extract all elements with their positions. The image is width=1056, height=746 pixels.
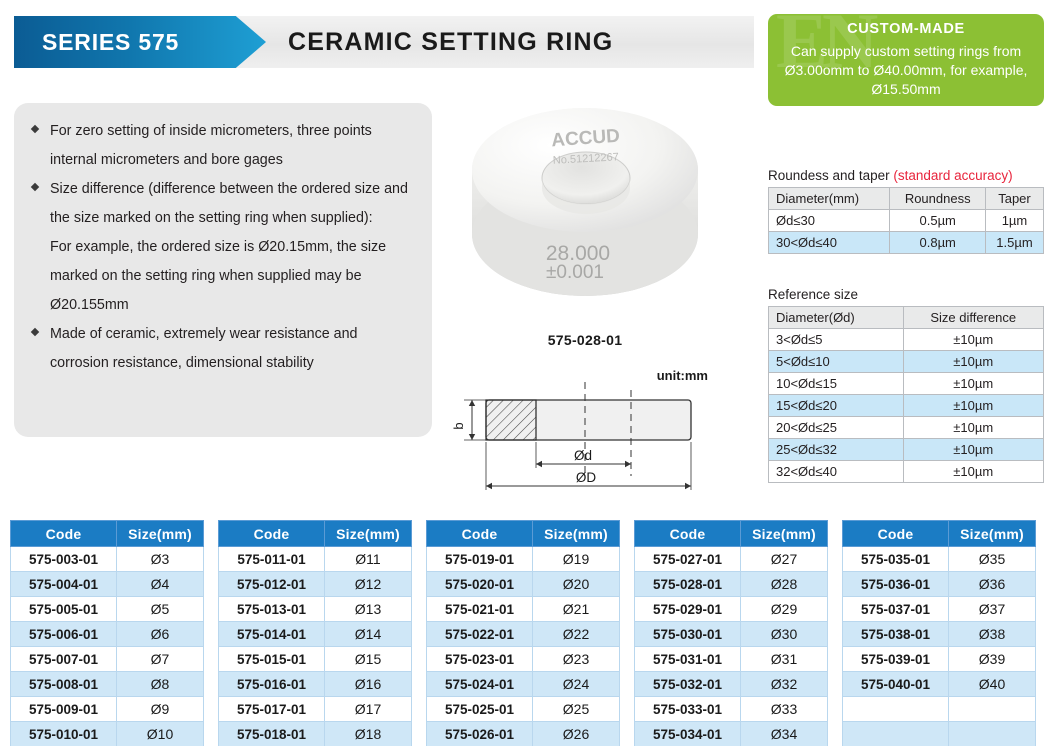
product-caption: 575-028-01 xyxy=(440,332,730,348)
table-header-row: CodeSize(mm) xyxy=(427,521,620,547)
diamond-bullet-icon xyxy=(31,328,39,336)
cell-size-difference: ±10µm xyxy=(903,373,1043,395)
custom-made-title: CUSTOM-MADE xyxy=(847,21,965,37)
cell-code xyxy=(843,697,949,722)
cell-code: 575-035-01 xyxy=(843,547,949,572)
table-row: 575-034-01Ø34 xyxy=(635,722,828,746)
cell-size: Ø22 xyxy=(533,622,620,647)
cell-code: 575-040-01 xyxy=(843,672,949,697)
table-row: 575-005-01Ø5 xyxy=(11,597,204,622)
column-header: Roundness xyxy=(890,188,986,210)
table-header-row: CodeSize(mm) xyxy=(11,521,204,547)
table-row: 575-033-01Ø33 xyxy=(635,697,828,722)
cell-roundness: 0.5µm xyxy=(890,210,986,232)
roundness-caption: Roundess and taper (standard accuracy) xyxy=(768,168,1044,183)
cell-code: 575-021-01 xyxy=(427,597,533,622)
cell-code: 575-012-01 xyxy=(219,572,325,597)
table-row: 575-036-01Ø36 xyxy=(843,572,1036,597)
cell-code: 575-031-01 xyxy=(635,647,741,672)
cell-size: Ø3 xyxy=(117,547,204,572)
cell-size: Ø23 xyxy=(533,647,620,672)
cell-size: Ø33 xyxy=(741,697,828,722)
table-row: 575-018-01Ø18 xyxy=(219,722,412,746)
cell-code: 575-019-01 xyxy=(427,547,533,572)
code-size-table: CodeSize(mm)575-027-01Ø27575-028-01Ø2857… xyxy=(634,520,828,746)
dim-d-label: Ød xyxy=(574,448,592,463)
unit-label: unit:mm xyxy=(657,368,708,383)
cell-size: Ø26 xyxy=(533,722,620,746)
cell-code: 575-010-01 xyxy=(11,722,117,746)
table-row: 575-035-01Ø35 xyxy=(843,547,1036,572)
table-row-empty xyxy=(843,722,1036,746)
roundness-table: Diameter(mm) Roundness Taper Ød≤30 0.5µm… xyxy=(768,187,1044,254)
cell-size: Ø37 xyxy=(949,597,1036,622)
series-label: SERIES 575 xyxy=(14,29,179,56)
table-row: 32<Ød≤40±10µm xyxy=(769,461,1044,483)
column-header-size: Size(mm) xyxy=(325,521,412,547)
table-row: 575-027-01Ø27 xyxy=(635,547,828,572)
page-title: CERAMIC SETTING RING xyxy=(288,16,613,68)
feature-text: For zero setting of inside micrometers, … xyxy=(50,123,372,168)
cell-size: Ø12 xyxy=(325,572,412,597)
technical-drawing: unit:mm b Ød xyxy=(446,368,730,498)
code-size-table: CodeSize(mm)575-035-01Ø35575-036-01Ø3657… xyxy=(842,520,1036,746)
cell-roundness: 0.8µm xyxy=(890,232,986,254)
list-item: Made of ceramic, extremely wear resistan… xyxy=(32,320,416,378)
reference-size-section: Reference size Diameter(Ød) Size differe… xyxy=(768,287,1044,483)
tolerance-engraving: ±0.001 xyxy=(546,262,604,283)
cell-diameter: 3<Ød≤5 xyxy=(769,329,904,351)
table-row: 575-009-01Ø9 xyxy=(11,697,204,722)
cell-size: Ø11 xyxy=(325,547,412,572)
table-row: 575-038-01Ø38 xyxy=(843,622,1036,647)
feature-text: Size difference (difference between the … xyxy=(50,181,408,226)
cell-code: 575-029-01 xyxy=(635,597,741,622)
table-header-row: Diameter(Ød) Size difference xyxy=(769,307,1044,329)
cell-code: 575-030-01 xyxy=(635,622,741,647)
table-row: 575-022-01Ø22 xyxy=(427,622,620,647)
cell-size-difference: ±10µm xyxy=(903,439,1043,461)
cell-size: Ø38 xyxy=(949,622,1036,647)
column-header: Diameter(mm) xyxy=(769,188,890,210)
cell-size: Ø35 xyxy=(949,547,1036,572)
cell-size: Ø13 xyxy=(325,597,412,622)
column-header-size: Size(mm) xyxy=(741,521,828,547)
table-row: 575-012-01Ø12 xyxy=(219,572,412,597)
feature-list: For zero setting of inside micrometers, … xyxy=(32,117,416,378)
dim-D-label: ØD xyxy=(576,470,597,485)
table-row: 575-017-01Ø17 xyxy=(219,697,412,722)
code-size-table: CodeSize(mm)575-003-01Ø3575-004-01Ø4575-… xyxy=(10,520,204,746)
cell-diameter: 30<Ød≤40 xyxy=(769,232,890,254)
cell-code: 575-006-01 xyxy=(11,622,117,647)
table-row: 15<Ød≤20±10µm xyxy=(769,395,1044,417)
table-row: 575-020-01Ø20 xyxy=(427,572,620,597)
table-header-row: CodeSize(mm) xyxy=(219,521,412,547)
cell-code: 575-034-01 xyxy=(635,722,741,746)
cell-code xyxy=(843,722,949,746)
cell-size: Ø20 xyxy=(533,572,620,597)
table-header-row: Diameter(mm) Roundness Taper xyxy=(769,188,1044,210)
cell-size: Ø27 xyxy=(741,547,828,572)
cell-size: Ø17 xyxy=(325,697,412,722)
column-header: Diameter(Ød) xyxy=(769,307,904,329)
table-row: 575-024-01Ø24 xyxy=(427,672,620,697)
table-row: 575-013-01Ø13 xyxy=(219,597,412,622)
column-header-size: Size(mm) xyxy=(533,521,620,547)
table-row: 575-019-01Ø19 xyxy=(427,547,620,572)
cross-section-diagram: b Ød ØD xyxy=(446,368,730,498)
cell-diameter: 25<Ød≤32 xyxy=(769,439,904,461)
table-row: 575-029-01Ø29 xyxy=(635,597,828,622)
cell-code: 575-027-01 xyxy=(635,547,741,572)
table-row: 10<Ød≤15±10µm xyxy=(769,373,1044,395)
table-row: 575-037-01Ø37 xyxy=(843,597,1036,622)
catalog-page: SERIES 575 CERAMIC SETTING RING EN CUSTO… xyxy=(0,0,1056,746)
table-row-empty xyxy=(843,697,1036,722)
cell-size: Ø34 xyxy=(741,722,828,746)
cell-size: Ø31 xyxy=(741,647,828,672)
cell-taper: 1.5µm xyxy=(985,232,1043,254)
dim-b-label: b xyxy=(451,422,466,429)
cell-size: Ø15 xyxy=(325,647,412,672)
table-row: 575-006-01Ø6 xyxy=(11,622,204,647)
features-panel: For zero setting of inside micrometers, … xyxy=(14,103,432,437)
cell-size: Ø16 xyxy=(325,672,412,697)
roundness-caption-main: Roundess and taper xyxy=(768,168,893,183)
cell-code: 575-016-01 xyxy=(219,672,325,697)
table-row: 575-031-01Ø31 xyxy=(635,647,828,672)
table-row: Ød≤30 0.5µm 1µm xyxy=(769,210,1044,232)
diamond-bullet-icon xyxy=(31,183,39,191)
cell-size: Ø6 xyxy=(117,622,204,647)
cell-size: Ø24 xyxy=(533,672,620,697)
table-row: 575-004-01Ø4 xyxy=(11,572,204,597)
cell-code: 575-015-01 xyxy=(219,647,325,672)
column-header-code: Code xyxy=(635,521,741,547)
cell-size-difference: ±10µm xyxy=(903,395,1043,417)
cell-code: 575-023-01 xyxy=(427,647,533,672)
cell-size: Ø29 xyxy=(741,597,828,622)
table-row: 575-015-01Ø15 xyxy=(219,647,412,672)
roundness-caption-accent: (standard accuracy) xyxy=(893,168,1012,183)
custom-made-text: Can supply custom setting rings from Ø3.… xyxy=(775,42,1037,99)
list-item-sub: For example, the ordered size is Ø20.15m… xyxy=(32,233,416,320)
cell-size xyxy=(949,722,1036,746)
cell-diameter: 5<Ød≤10 xyxy=(769,351,904,373)
cell-size: Ø18 xyxy=(325,722,412,746)
cell-code: 575-011-01 xyxy=(219,547,325,572)
product-photo: ACCUD No.51212267 28.000 ±0.001 xyxy=(440,108,730,318)
cell-size-difference: ±10µm xyxy=(903,461,1043,483)
table-row: 575-008-01Ø8 xyxy=(11,672,204,697)
cell-code: 575-003-01 xyxy=(11,547,117,572)
cell-size: Ø30 xyxy=(741,622,828,647)
cell-diameter: Ød≤30 xyxy=(769,210,890,232)
table-row: 575-021-01Ø21 xyxy=(427,597,620,622)
column-header-code: Code xyxy=(427,521,533,547)
cell-size: Ø10 xyxy=(117,722,204,746)
cell-size: Ø7 xyxy=(117,647,204,672)
diamond-bullet-icon xyxy=(31,125,39,133)
table-row: 575-010-01Ø10 xyxy=(11,722,204,746)
cell-size: Ø25 xyxy=(533,697,620,722)
cell-code: 575-009-01 xyxy=(11,697,117,722)
reference-caption: Reference size xyxy=(768,287,1044,302)
table-row: 575-032-01Ø32 xyxy=(635,672,828,697)
series-tag: SERIES 575 xyxy=(14,16,266,68)
cell-code: 575-020-01 xyxy=(427,572,533,597)
cell-taper: 1µm xyxy=(985,210,1043,232)
column-header-size: Size(mm) xyxy=(949,521,1036,547)
table-row: 575-016-01Ø16 xyxy=(219,672,412,697)
table-row: 575-003-01Ø3 xyxy=(11,547,204,572)
cell-size: Ø8 xyxy=(117,672,204,697)
cell-size-difference: ±10µm xyxy=(903,417,1043,439)
cell-size: Ø40 xyxy=(949,672,1036,697)
cell-code: 575-018-01 xyxy=(219,722,325,746)
cell-code: 575-022-01 xyxy=(427,622,533,647)
table-row: 575-040-01Ø40 xyxy=(843,672,1036,697)
cell-code: 575-036-01 xyxy=(843,572,949,597)
cell-code: 575-014-01 xyxy=(219,622,325,647)
cell-size: Ø32 xyxy=(741,672,828,697)
table-row: 30<Ød≤40 0.8µm 1.5µm xyxy=(769,232,1044,254)
list-item: Size difference (difference between the … xyxy=(32,175,416,233)
cell-size: Ø39 xyxy=(949,647,1036,672)
cell-code: 575-032-01 xyxy=(635,672,741,697)
reference-size-table: Diameter(Ød) Size difference 3<Ød≤5±10µm… xyxy=(768,306,1044,483)
list-item: For zero setting of inside micrometers, … xyxy=(32,117,416,175)
cell-size: Ø9 xyxy=(117,697,204,722)
cell-code: 575-038-01 xyxy=(843,622,949,647)
cell-size: Ø21 xyxy=(533,597,620,622)
cell-diameter: 15<Ød≤20 xyxy=(769,395,904,417)
column-header: Size difference xyxy=(903,307,1043,329)
cell-size: Ø5 xyxy=(117,597,204,622)
cell-code: 575-008-01 xyxy=(11,672,117,697)
table-row: 5<Ød≤10±10µm xyxy=(769,351,1044,373)
table-header-row: CodeSize(mm) xyxy=(843,521,1036,547)
cell-code: 575-039-01 xyxy=(843,647,949,672)
table-row: 25<Ød≤32±10µm xyxy=(769,439,1044,461)
cell-code: 575-007-01 xyxy=(11,647,117,672)
cell-code: 575-024-01 xyxy=(427,672,533,697)
table-row: 575-030-01Ø30 xyxy=(635,622,828,647)
code-tables-container: CodeSize(mm)575-003-01Ø3575-004-01Ø4575-… xyxy=(10,520,1048,746)
cell-size: Ø36 xyxy=(949,572,1036,597)
column-header-code: Code xyxy=(843,521,949,547)
cell-code: 575-025-01 xyxy=(427,697,533,722)
cell-diameter: 32<Ød≤40 xyxy=(769,461,904,483)
cell-size: Ø28 xyxy=(741,572,828,597)
feature-text: Made of ceramic, extremely wear resistan… xyxy=(50,326,358,371)
cell-code: 575-017-01 xyxy=(219,697,325,722)
cell-code: 575-004-01 xyxy=(11,572,117,597)
table-header-row: CodeSize(mm) xyxy=(635,521,828,547)
cell-code: 575-033-01 xyxy=(635,697,741,722)
cell-diameter: 10<Ød≤15 xyxy=(769,373,904,395)
cell-size-difference: ±10µm xyxy=(903,351,1043,373)
custom-made-box: EN CUSTOM-MADE Can supply custom setting… xyxy=(768,14,1044,106)
table-row: 575-023-01Ø23 xyxy=(427,647,620,672)
cell-size: Ø19 xyxy=(533,547,620,572)
cell-code: 575-005-01 xyxy=(11,597,117,622)
cell-diameter: 20<Ød≤25 xyxy=(769,417,904,439)
ceramic-ring-image: ACCUD No.51212267 28.000 ±0.001 xyxy=(460,108,710,313)
table-row: 575-007-01Ø7 xyxy=(11,647,204,672)
cell-size: Ø14 xyxy=(325,622,412,647)
table-row: 3<Ød≤5±10µm xyxy=(769,329,1044,351)
column-header-code: Code xyxy=(219,521,325,547)
column-header-code: Code xyxy=(11,521,117,547)
table-row: 575-026-01Ø26 xyxy=(427,722,620,746)
table-row: 575-011-01Ø11 xyxy=(219,547,412,572)
table-row: 575-014-01Ø14 xyxy=(219,622,412,647)
cell-size: Ø4 xyxy=(117,572,204,597)
table-row: 575-025-01Ø25 xyxy=(427,697,620,722)
column-header: Taper xyxy=(985,188,1043,210)
table-row: 575-039-01Ø39 xyxy=(843,647,1036,672)
cell-code: 575-013-01 xyxy=(219,597,325,622)
code-size-table: CodeSize(mm)575-019-01Ø19575-020-01Ø2057… xyxy=(426,520,620,746)
cell-code: 575-037-01 xyxy=(843,597,949,622)
column-header-size: Size(mm) xyxy=(117,521,204,547)
roundness-taper-section: Roundess and taper (standard accuracy) D… xyxy=(768,168,1044,254)
table-row: 20<Ød≤25±10µm xyxy=(769,417,1044,439)
cell-size xyxy=(949,697,1036,722)
code-size-table: CodeSize(mm)575-011-01Ø11575-012-01Ø1257… xyxy=(218,520,412,746)
cell-code: 575-026-01 xyxy=(427,722,533,746)
cell-size-difference: ±10µm xyxy=(903,329,1043,351)
cell-code: 575-028-01 xyxy=(635,572,741,597)
table-row: 575-028-01Ø28 xyxy=(635,572,828,597)
